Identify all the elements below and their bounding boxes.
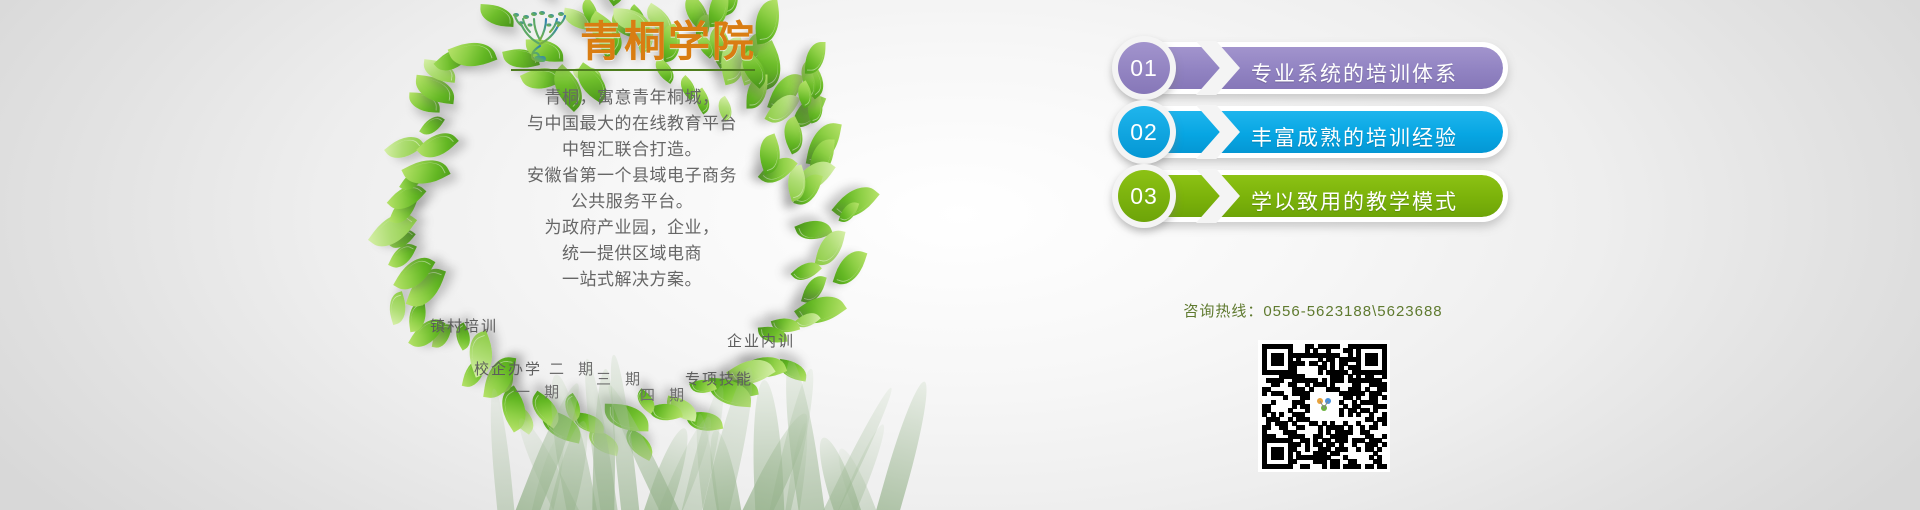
brand-description-line: 与中国最大的在线教育平台 xyxy=(497,111,767,137)
banner-stage: 青桐学院 青桐，寓意青年桐城，与中国最大的在线教育平台中智汇联合打造。安徽省第一… xyxy=(0,0,1920,510)
badge-number-ring: 01 xyxy=(1112,36,1176,100)
badge-number-ring: 03 xyxy=(1112,164,1176,228)
category-label-xiaoqi: 校企办学 xyxy=(474,358,542,379)
feature-badge-02[interactable]: 丰富成熟的培训经验 02 xyxy=(1118,106,1508,158)
category-label-zhencun: 镇村培训 xyxy=(430,315,498,336)
brand-description-line: 统一提供区域电商 xyxy=(497,241,767,267)
badge-label: 专业系统的培训体系 xyxy=(1251,47,1489,94)
badge-body: 专业系统的培训体系 xyxy=(1118,42,1508,94)
brand-description-line: 公共服务平台。 xyxy=(497,189,767,215)
badge-body: 丰富成熟的培训经验 xyxy=(1118,106,1508,158)
feature-badge-03[interactable]: 学以致用的教学模式 03 xyxy=(1118,170,1508,222)
feature-badge-01[interactable]: 专业系统的培训体系 01 xyxy=(1118,42,1508,94)
badge-body: 学以致用的教学模式 xyxy=(1118,170,1508,222)
qr-code-pattern xyxy=(1262,344,1386,468)
term-label-2: 二 期 xyxy=(549,358,598,379)
grass-blade-icon xyxy=(486,388,517,510)
hotline-text: 咨询热线：0556-5623188\5623688 xyxy=(1118,300,1508,321)
brand-description-line: 中智汇联合打造。 xyxy=(497,137,767,163)
badge-number: 01 xyxy=(1118,42,1170,94)
badge-number: 03 xyxy=(1118,170,1170,222)
page-title: 青桐学院 xyxy=(580,20,756,64)
logo-row: 青桐学院 xyxy=(497,4,767,64)
qr-code[interactable] xyxy=(1258,340,1390,472)
leaf-icon xyxy=(384,291,410,325)
brand-block: 青桐学院 青桐，寓意青年桐城，与中国最大的在线教育平台中智汇联合打造。安徽省第一… xyxy=(497,4,767,293)
badge-number: 02 xyxy=(1118,106,1170,158)
category-label-qiye: 企业内训 xyxy=(727,330,795,351)
title-divider xyxy=(511,69,755,71)
term-label-1: 一 期 xyxy=(515,381,564,402)
badge-number-ring: 02 xyxy=(1112,100,1176,164)
badge-label: 学以致用的教学模式 xyxy=(1251,175,1489,222)
term-label-4: 四 期 xyxy=(640,384,689,405)
term-label-3: 三 期 xyxy=(596,368,645,389)
badge-label: 丰富成熟的培训经验 xyxy=(1251,111,1489,158)
brand-mark-icon xyxy=(1308,390,1340,422)
leaf-icon xyxy=(448,34,498,75)
leaf-icon xyxy=(805,41,826,74)
feature-badge-list: 专业系统的培训体系 01 丰富成熟的培训经验 02 学以致用的教学模式 xyxy=(1118,42,1508,234)
brand-description-line: 安徽省第一个县域电子商务 xyxy=(497,163,767,189)
brand-description-line: 一站式解决方案。 xyxy=(497,267,767,293)
brand-description-line: 为政府产业园，企业， xyxy=(497,215,767,241)
tree-icon xyxy=(508,6,572,64)
brand-description: 青桐，寓意青年桐城，与中国最大的在线教育平台中智汇联合打造。安徽省第一个县域电子… xyxy=(497,85,767,293)
brand-description-line: 青桐，寓意青年桐城， xyxy=(497,85,767,111)
category-label-zhuanxiang: 专项技能 xyxy=(685,368,753,389)
